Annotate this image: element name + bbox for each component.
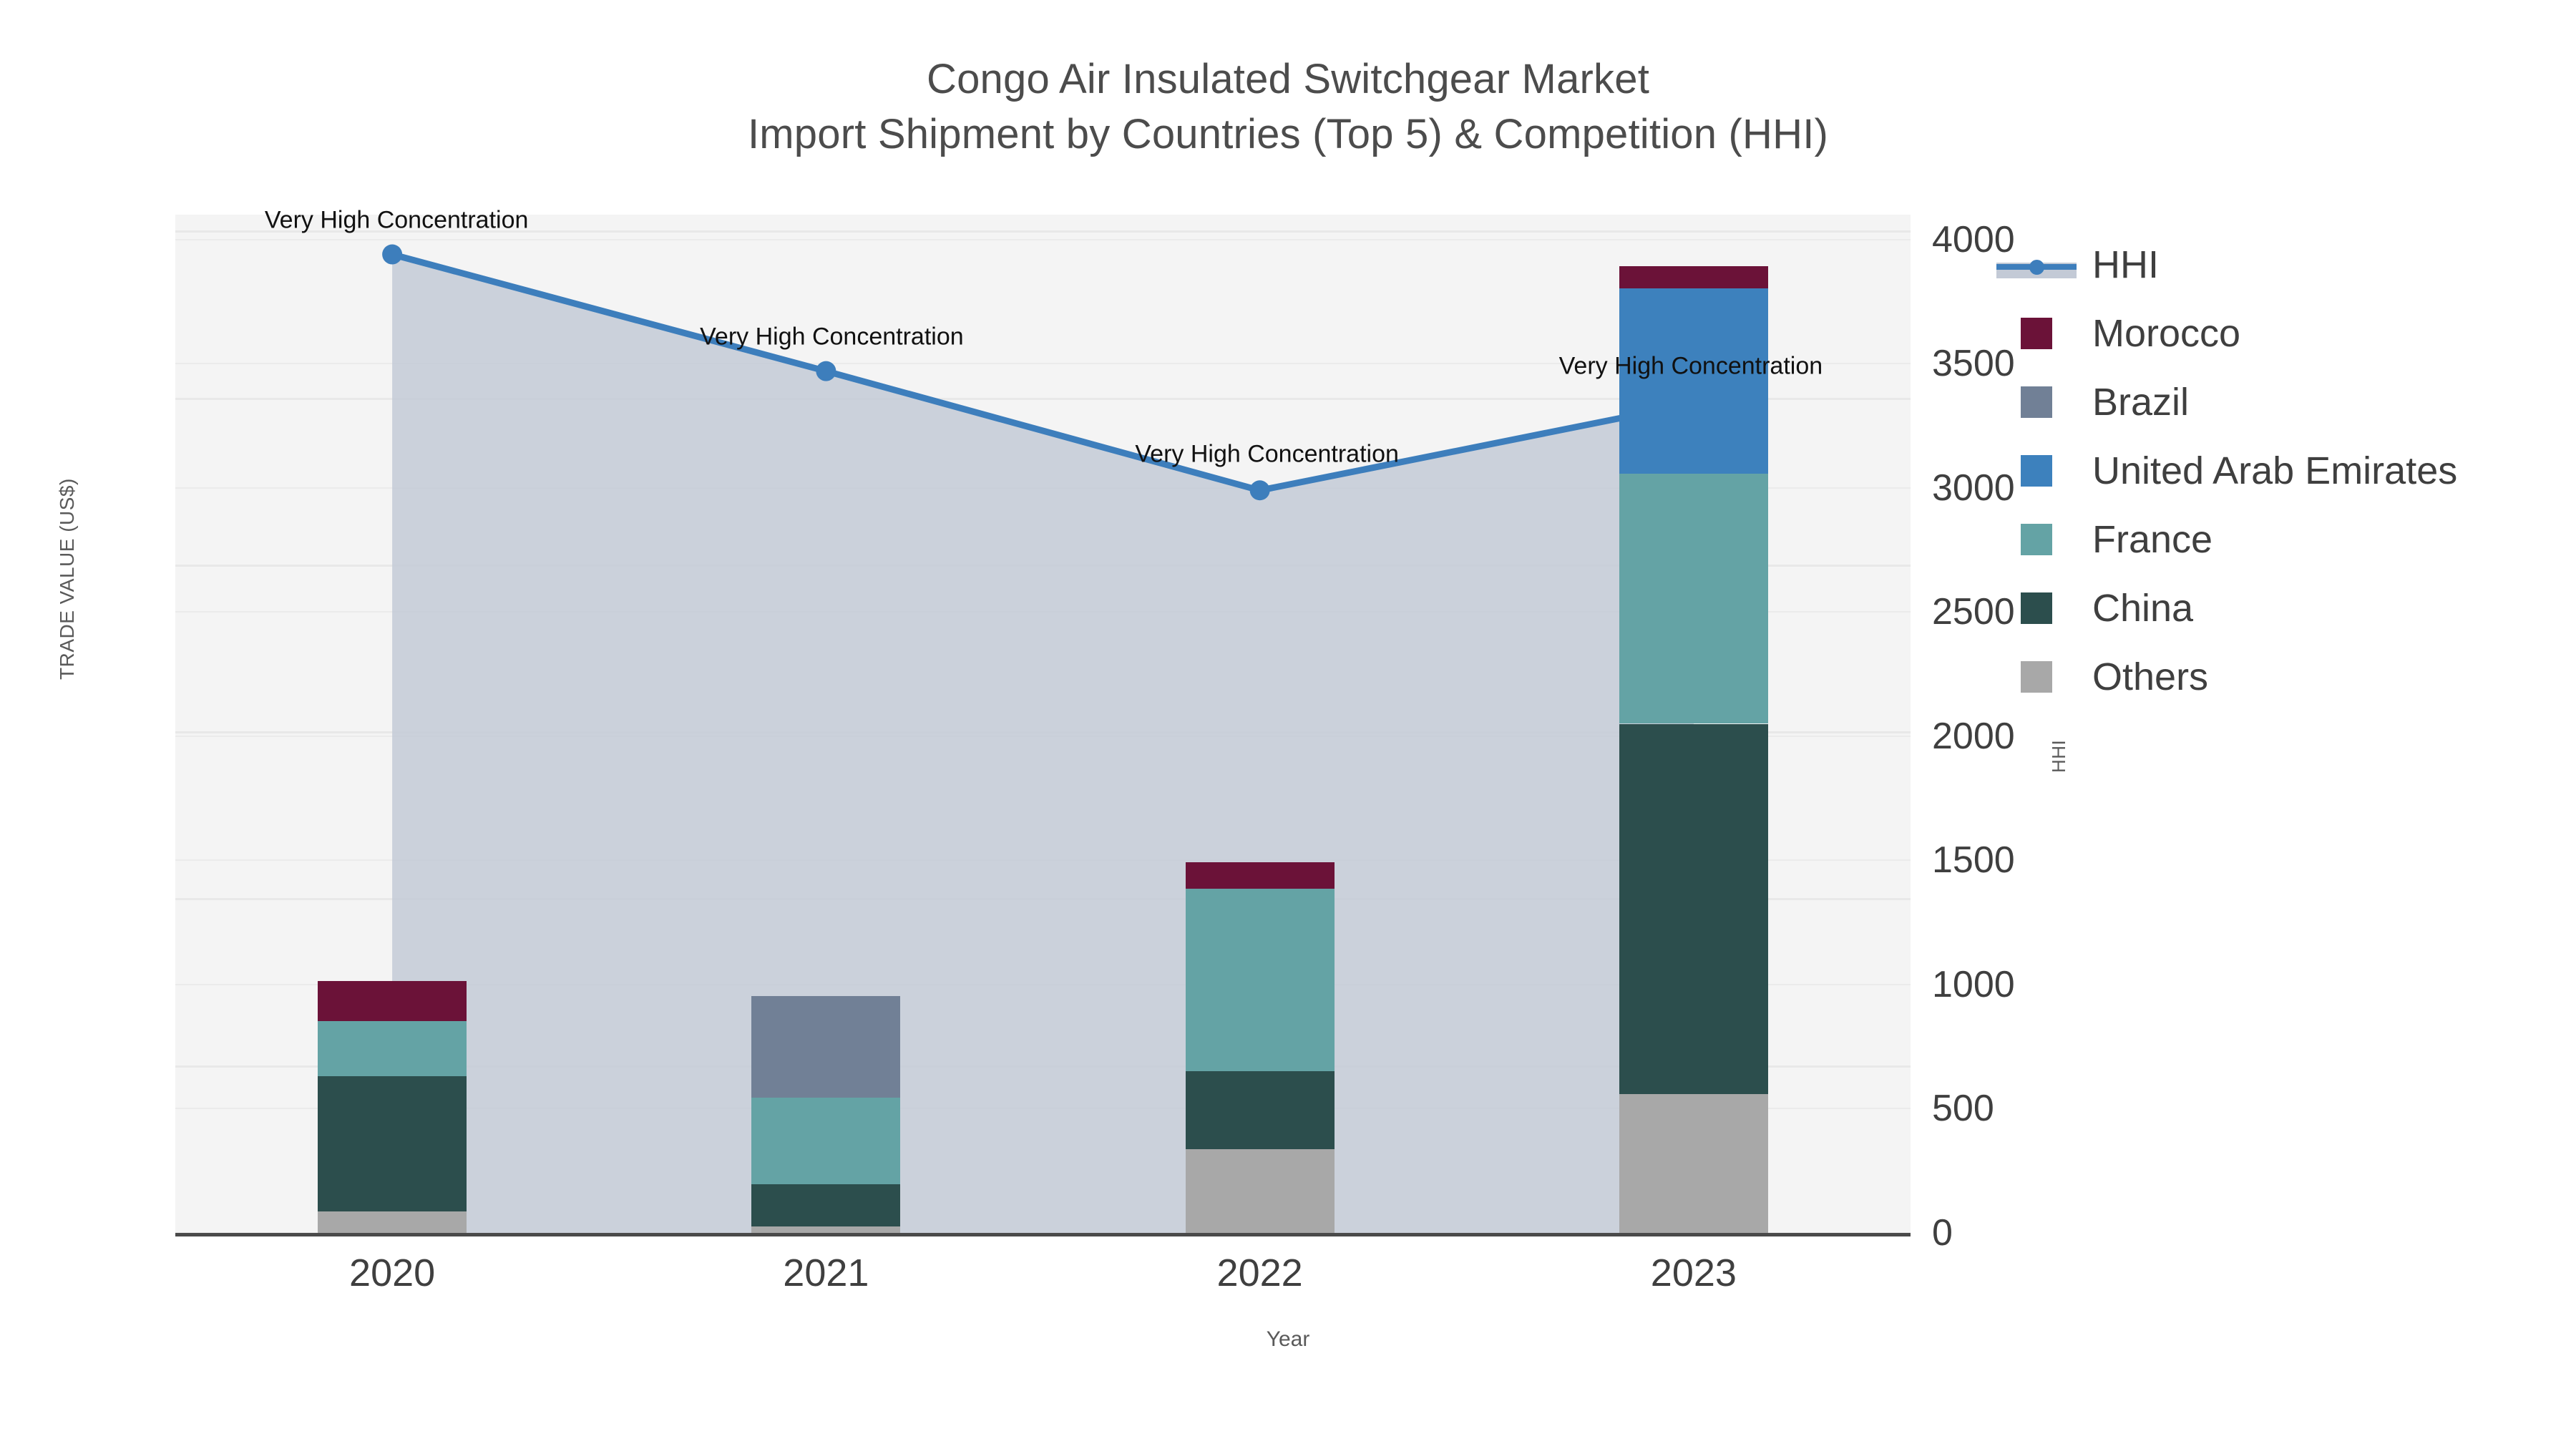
bar-segment — [1619, 266, 1768, 288]
y-tick-right: 0 — [1932, 1211, 1953, 1254]
chart-container: Congo Air Insulated Switchgear Market Im… — [0, 0, 2576, 1449]
legend-swatch — [2021, 524, 2052, 555]
legend-item-china[interactable]: China — [1996, 574, 2457, 643]
x-axis-line — [175, 1233, 1911, 1236]
bar-segment — [1186, 1149, 1335, 1233]
annotation-label: Very High Concentration — [265, 206, 529, 234]
legend-label: France — [2092, 517, 2212, 562]
legend-swatch — [2021, 455, 2052, 487]
bar-segment — [318, 1076, 467, 1211]
legend-label: Others — [2092, 655, 2208, 699]
hhi-marker — [382, 245, 402, 265]
bar-segment — [1619, 724, 1768, 1095]
bar-segment — [318, 1021, 467, 1076]
legend-item-morocco[interactable]: Morocco — [1996, 299, 2457, 368]
y-axis-right-label: HHI — [2048, 740, 2070, 773]
plot-area: Very High ConcentrationVery High Concent… — [175, 215, 1911, 1233]
annotation-label: Very High Concentration — [1559, 352, 1823, 380]
legend-swatch — [2021, 592, 2052, 624]
bar-segment — [1619, 288, 1768, 474]
legend: HHIMoroccoBrazilUnited Arab EmiratesFran… — [1996, 230, 2457, 711]
bar-segment — [751, 1184, 900, 1226]
x-tick-2023: 2023 — [1651, 1251, 1737, 1295]
x-tick-2022: 2022 — [1217, 1251, 1303, 1295]
hhi-markers — [382, 245, 1704, 501]
legend-color-swatch-icon — [1996, 313, 2077, 354]
y-tick-right: 500 — [1932, 1087, 1994, 1130]
hhi-line — [392, 255, 1694, 491]
legend-color-swatch-icon — [1996, 587, 2077, 629]
bar-segment — [318, 1211, 467, 1233]
legend-swatch — [2021, 386, 2052, 418]
chart-title-line-1: Congo Air Insulated Switchgear Market — [0, 52, 2576, 107]
x-tick-2020: 2020 — [349, 1251, 435, 1295]
y-tick-right: 2000 — [1932, 715, 2015, 758]
legend-swatch — [2021, 661, 2052, 693]
hhi-area-fill — [392, 255, 1694, 1234]
legend-color-swatch-icon — [1996, 519, 2077, 560]
annotation-label: Very High Concentration — [700, 323, 964, 351]
bar-segment — [751, 996, 900, 1098]
y-tick-right: 1000 — [1932, 963, 2015, 1006]
legend-item-united-arab-emirates[interactable]: United Arab Emirates — [1996, 436, 2457, 505]
bar-segment — [318, 981, 467, 1021]
legend-color-swatch-icon — [1996, 381, 2077, 423]
hhi-marker — [1250, 480, 1270, 500]
legend-label: United Arab Emirates — [2092, 449, 2457, 493]
legend-label: Morocco — [2092, 311, 2240, 356]
bar-segment — [1186, 889, 1335, 1070]
chart-title-line-2: Import Shipment by Countries (Top 5) & C… — [0, 107, 2576, 162]
legend-item-others[interactable]: Others — [1996, 643, 2457, 711]
x-axis-label: Year — [0, 1327, 2576, 1352]
legend-dot-icon — [2029, 260, 2044, 275]
y-tick-right: 1500 — [1932, 839, 2015, 882]
legend-swatch — [2021, 318, 2052, 349]
legend-item-france[interactable]: France — [1996, 505, 2457, 574]
annotation-label: Very High Concentration — [1135, 441, 1399, 469]
bar-segment — [1619, 1094, 1768, 1233]
legend-line-marker-icon — [1996, 244, 2077, 286]
y-axis-left-label: TRADE VALUE (US$) — [56, 478, 79, 680]
legend-label: HHI — [2092, 243, 2159, 287]
bar-segment — [1619, 474, 1768, 724]
legend-color-swatch-icon — [1996, 656, 2077, 698]
bar-segment — [1186, 862, 1335, 889]
legend-label: China — [2092, 586, 2193, 630]
legend-color-swatch-icon — [1996, 450, 2077, 492]
legend-item-hhi[interactable]: HHI — [1996, 230, 2457, 299]
bar-segment — [1186, 1071, 1335, 1150]
legend-label: Brazil — [2092, 380, 2189, 424]
chart-title: Congo Air Insulated Switchgear Market Im… — [0, 52, 2576, 162]
bar-segment — [751, 1226, 900, 1233]
legend-item-brazil[interactable]: Brazil — [1996, 368, 2457, 436]
gridline-right — [175, 239, 1911, 240]
x-tick-2021: 2021 — [783, 1251, 869, 1295]
bar-segment — [751, 1098, 900, 1184]
